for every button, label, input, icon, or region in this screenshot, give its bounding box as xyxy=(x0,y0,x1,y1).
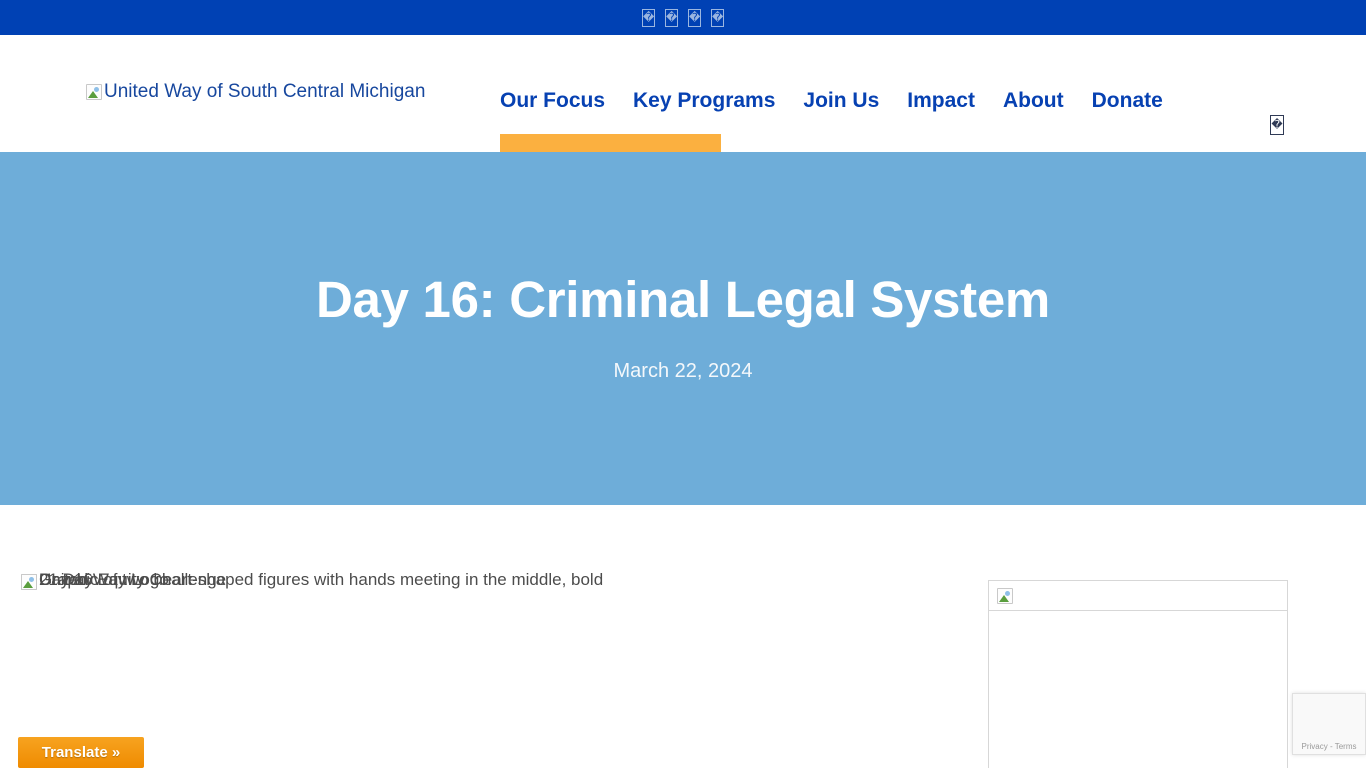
sidebar-widget xyxy=(988,580,1288,768)
hero-banner: Day 16: Criminal Legal System March 22, … xyxy=(0,152,1366,505)
nav-item-donate[interactable]: Donate xyxy=(1092,87,1163,115)
recaptcha-badge[interactable]: Privacy - Terms xyxy=(1292,693,1366,755)
twitter-icon[interactable]: � xyxy=(665,9,678,27)
translate-button[interactable]: Translate » xyxy=(18,737,144,768)
site-logo-alt-text: United Way of South Central Michigan xyxy=(104,81,425,103)
sidebar-widget-header xyxy=(989,581,1287,611)
site-header: United Way of South Central Michigan Our… xyxy=(0,35,1366,152)
article-broken-images: Graphic of two heart-shaped figures with… xyxy=(21,570,981,594)
facebook-icon[interactable]: � xyxy=(642,9,655,27)
site-logo[interactable]: United Way of South Central Michigan xyxy=(86,81,425,103)
nav-item-our-focus[interactable]: Our Focus xyxy=(500,87,605,115)
broken-image-alt-text: 21 Day Equity Challenge xyxy=(39,570,226,590)
broken-image-icon xyxy=(21,574,37,590)
top-utility-bar: � � � � xyxy=(0,0,1366,35)
broken-image-icon xyxy=(86,84,102,100)
nav-item-join-us[interactable]: Join Us xyxy=(803,87,879,115)
instagram-icon[interactable]: � xyxy=(688,9,701,27)
page-root: � � � � United Way of South Central Mich… xyxy=(0,0,1366,768)
recaptcha-terms-label[interactable]: Privacy - Terms xyxy=(1293,742,1365,751)
linkedin-icon[interactable]: � xyxy=(711,9,724,27)
page-title: Day 16: Criminal Legal System xyxy=(316,271,1050,330)
social-links: � � � � xyxy=(642,9,724,27)
page-date: March 22, 2024 xyxy=(614,360,753,383)
nav-item-key-programs[interactable]: Key Programs xyxy=(633,87,775,115)
broken-image-alt-row[interactable]: 21 Day Equity Challenge xyxy=(21,570,226,590)
nav-item-about[interactable]: About xyxy=(1003,87,1064,115)
search-icon[interactable]: � xyxy=(1270,115,1284,135)
main-navigation: Our Focus Key Programs Join Us Impact Ab… xyxy=(500,87,1163,115)
broken-image-icon xyxy=(997,588,1013,604)
nav-item-impact[interactable]: Impact xyxy=(907,87,975,115)
